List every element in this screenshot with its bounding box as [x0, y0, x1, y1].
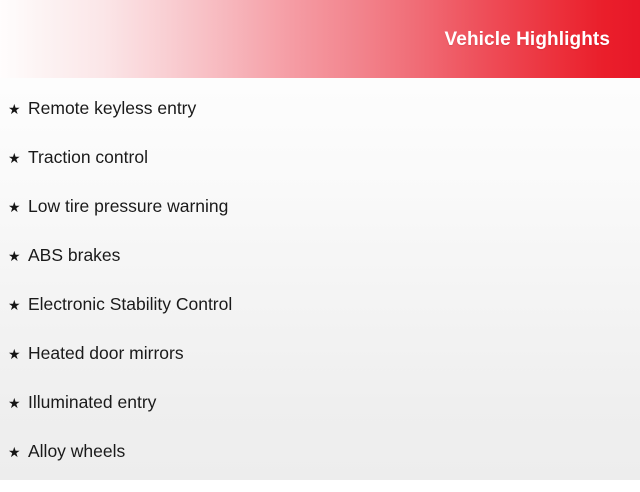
list-item: ★ Illuminated entry: [0, 394, 640, 443]
vehicle-highlights-slide: Vehicle Highlights ★ Remote keyless entr…: [0, 0, 640, 480]
list-item: ★ ABS brakes: [0, 247, 640, 296]
list-item: ★ Remote keyless entry: [0, 100, 640, 149]
star-icon: ★: [8, 249, 28, 263]
slide-header-banner: Vehicle Highlights: [0, 0, 640, 78]
star-icon: ★: [8, 200, 28, 214]
star-icon: ★: [8, 445, 28, 459]
list-item: ★ Alloy wheels: [0, 443, 640, 492]
list-item: ★ Low tire pressure warning: [0, 198, 640, 247]
list-item: ★ Heated door mirrors: [0, 345, 640, 394]
vehicle-highlights-list: ★ Remote keyless entry ★ Traction contro…: [0, 78, 640, 492]
list-item-label: Electronic Stability Control: [28, 296, 232, 314]
list-item-label: ABS brakes: [28, 247, 120, 265]
list-item-label: Heated door mirrors: [28, 345, 184, 363]
list-item-label: Illuminated entry: [28, 394, 156, 412]
star-icon: ★: [8, 396, 28, 410]
list-item: ★ Electronic Stability Control: [0, 296, 640, 345]
star-icon: ★: [8, 298, 28, 312]
list-item-label: Low tire pressure warning: [28, 198, 228, 216]
list-item-label: Traction control: [28, 149, 148, 167]
list-item-label: Alloy wheels: [28, 443, 125, 461]
star-icon: ★: [8, 347, 28, 361]
star-icon: ★: [8, 102, 28, 116]
list-item: ★ Traction control: [0, 149, 640, 198]
page-title: Vehicle Highlights: [445, 30, 610, 49]
star-icon: ★: [8, 151, 28, 165]
list-item-label: Remote keyless entry: [28, 100, 196, 118]
